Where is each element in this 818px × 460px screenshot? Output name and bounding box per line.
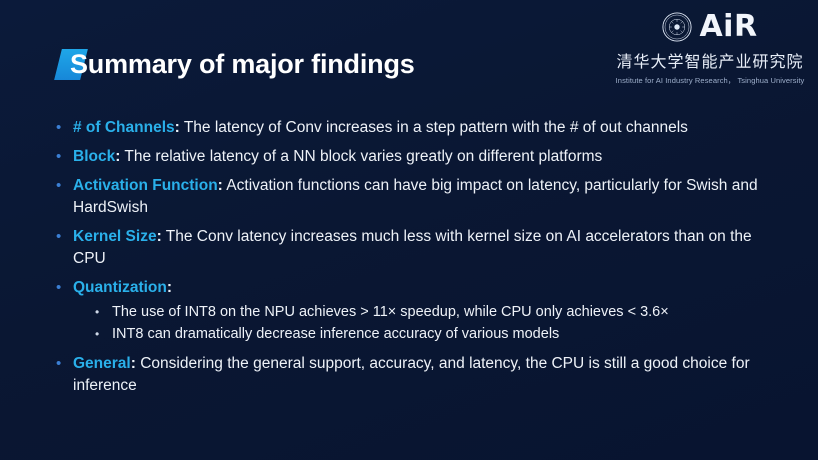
- bullet-marker-icon: •: [56, 146, 73, 168]
- finding-text: Considering the general support, accurac…: [73, 355, 750, 394]
- air-logo: AiR 清华大学智能产业研究院 Institute for AI Industr…: [610, 8, 810, 86]
- slide-title-row: Summary of major findings: [58, 44, 415, 84]
- page-title: Summary of major findings: [70, 49, 415, 80]
- finding-keyword: # of Channels: [73, 119, 175, 136]
- finding-body: General: Considering the general support…: [73, 353, 778, 397]
- bullet-marker-icon: •: [56, 277, 73, 299]
- finding-sub-text: The use of INT8 on the NPU achieves > 11…: [112, 302, 778, 323]
- finding-keyword: General: [73, 355, 131, 372]
- finding-text: The latency of Conv increases in a step …: [180, 119, 688, 136]
- finding-item: •Quantization:•The use of INT8 on the NP…: [56, 277, 778, 346]
- finding-item: •General: Considering the general suppor…: [56, 353, 778, 397]
- air-wordmark: AiR: [699, 12, 757, 42]
- bullet-marker-icon: •: [56, 226, 73, 248]
- finding-item: •Kernel Size: The Conv latency increases…: [56, 226, 778, 270]
- bullet-marker-icon: •: [56, 175, 73, 197]
- finding-body: Quantization:•The use of INT8 on the NPU…: [73, 277, 778, 346]
- finding-text: The relative latency of a NN block varie…: [120, 148, 602, 165]
- finding-body: # of Channels: The latency of Conv incre…: [73, 117, 778, 139]
- sub-bullet-marker-icon: •: [95, 324, 112, 345]
- finding-text: The Conv latency increases much less wit…: [73, 228, 752, 267]
- finding-sub-item: •INT8 can dramatically decrease inferenc…: [95, 324, 778, 345]
- finding-body: Kernel Size: The Conv latency increases …: [73, 226, 778, 270]
- finding-keyword: Quantization: [73, 279, 167, 296]
- finding-body: Block: The relative latency of a NN bloc…: [73, 146, 778, 168]
- slide-canvas: AiR 清华大学智能产业研究院 Institute for AI Industr…: [0, 0, 818, 460]
- sub-bullet-marker-icon: •: [95, 302, 112, 323]
- finding-keyword: Kernel Size: [73, 228, 157, 245]
- logo-top-row: AiR: [662, 8, 757, 46]
- finding-item: •Activation Function: Activation functio…: [56, 175, 778, 219]
- finding-item: •# of Channels: The latency of Conv incr…: [56, 117, 778, 139]
- logo-english-name: Institute for AI Industry Research， Tsin…: [616, 75, 805, 86]
- finding-keyword: Block: [73, 148, 115, 165]
- findings-list: •# of Channels: The latency of Conv incr…: [56, 117, 778, 404]
- finding-separator: :: [167, 279, 172, 296]
- finding-keyword: Activation Function: [73, 177, 218, 194]
- bullet-marker-icon: •: [56, 117, 73, 139]
- logo-chinese-name: 清华大学智能产业研究院: [616, 48, 803, 72]
- finding-sub-text: INT8 can dramatically decrease inference…: [112, 324, 778, 345]
- finding-item: •Block: The relative latency of a NN blo…: [56, 146, 778, 168]
- finding-body: Activation Function: Activation function…: [73, 175, 778, 219]
- finding-sub-list: •The use of INT8 on the NPU achieves > 1…: [95, 302, 778, 345]
- finding-sub-item: •The use of INT8 on the NPU achieves > 1…: [95, 302, 778, 323]
- bullet-marker-icon: •: [56, 353, 73, 375]
- tsinghua-seal-icon: [662, 12, 692, 42]
